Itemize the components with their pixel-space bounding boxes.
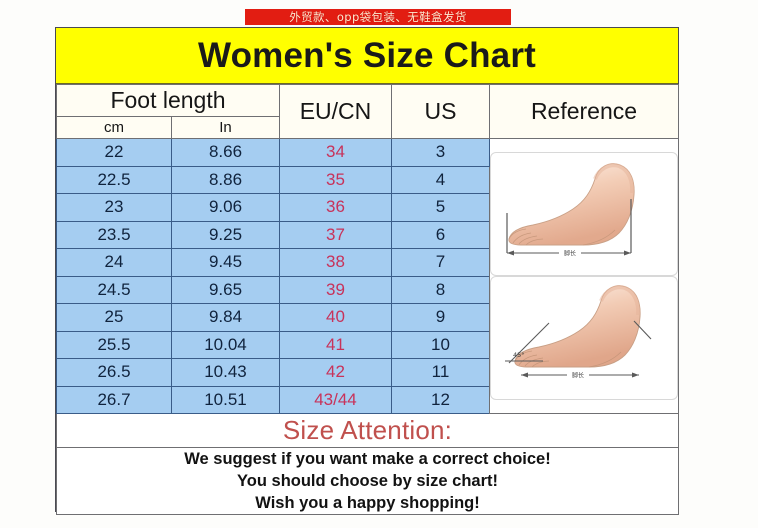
attention-title: Size Attention: <box>283 415 452 445</box>
angle-label: 45° <box>513 351 525 359</box>
header-reference: Reference <box>490 85 679 139</box>
cell-cm: 26.5 <box>57 359 172 387</box>
cell-eu: 36 <box>280 194 392 222</box>
cell-us: 3 <box>392 139 490 167</box>
cell-in: 10.04 <box>172 331 280 359</box>
cell-in: 9.06 <box>172 194 280 222</box>
cell-in: 10.43 <box>172 359 280 387</box>
cell-us: 10 <box>392 331 490 359</box>
cell-in: 10.51 <box>172 386 280 414</box>
cell-cm: 25 <box>57 304 172 332</box>
cell-us: 7 <box>392 249 490 277</box>
cell-in: 9.65 <box>172 276 280 304</box>
attention-line-1: We suggest if you want make a correct ch… <box>57 448 678 470</box>
cell-cm: 24.5 <box>57 276 172 304</box>
header-foot-length: Foot length <box>57 85 280 117</box>
cell-eu: 39 <box>280 276 392 304</box>
cell-cm: 24 <box>57 249 172 277</box>
cell-cm: 22 <box>57 139 172 167</box>
cell-eu: 43/44 <box>280 386 392 414</box>
cell-eu: 35 <box>280 166 392 194</box>
attention-body-row: We suggest if you want make a correct ch… <box>57 448 679 515</box>
cell-in: 9.25 <box>172 221 280 249</box>
cell-cm: 23 <box>57 194 172 222</box>
header-eu-cn: EU/CN <box>280 85 392 139</box>
cell-in: 9.84 <box>172 304 280 332</box>
attention-line-3: Wish you a happy shopping! <box>57 492 678 514</box>
cell-cm: 25.5 <box>57 331 172 359</box>
cell-in: 8.66 <box>172 139 280 167</box>
cell-cm: 26.7 <box>57 386 172 414</box>
cell-in: 8.86 <box>172 166 280 194</box>
cell-eu: 41 <box>280 331 392 359</box>
cell-us: 5 <box>392 194 490 222</box>
foot-measure-icon: 脚长 <box>491 153 678 276</box>
page-title: Women's Size Chart <box>198 36 536 76</box>
cell-cm: 23.5 <box>57 221 172 249</box>
cell-us: 8 <box>392 276 490 304</box>
svg-text:脚长: 脚长 <box>572 372 584 380</box>
svg-text:脚长: 脚长 <box>564 250 576 258</box>
cell-eu: 42 <box>280 359 392 387</box>
reference-pane-bottom: 45° 脚长 method:inner length of shoe=lengt… <box>490 276 678 400</box>
cell-eu: 38 <box>280 249 392 277</box>
cell-eu: 37 <box>280 221 392 249</box>
size-chart-page: 外贸款、opp袋包装、无鞋盒发货 Women's Size Chart Foot… <box>0 0 758 528</box>
foot-measure-angle-icon: 45° 脚长 <box>491 277 678 400</box>
promo-banner: 外贸款、opp袋包装、无鞋盒发货 <box>245 9 511 25</box>
reference-pane-top: 脚长 method:inner length of shoe=length of… <box>490 152 678 276</box>
attention-line-2: You should choose by size chart! <box>57 470 678 492</box>
cell-cm: 22.5 <box>57 166 172 194</box>
cell-in: 9.45 <box>172 249 280 277</box>
title-band: Women's Size Chart <box>56 28 678 84</box>
cell-eu: 40 <box>280 304 392 332</box>
table-header-row-main: Foot length EU/CN US Reference <box>57 85 679 117</box>
cell-us: 9 <box>392 304 490 332</box>
cell-eu: 34 <box>280 139 392 167</box>
attention-heading-row: Size Attention: <box>57 414 679 448</box>
header-in: In <box>172 117 280 139</box>
reference-cell: 脚长 method:inner length of shoe=length of… <box>490 139 679 414</box>
size-chart-table: Foot length EU/CN US Reference cm In 22 … <box>56 84 679 515</box>
cell-us: 11 <box>392 359 490 387</box>
header-us: US <box>392 85 490 139</box>
cell-us: 12 <box>392 386 490 414</box>
attention-heading-cell: Size Attention: <box>57 414 679 448</box>
size-chart-sheet: Women's Size Chart Foot length EU/CN US … <box>55 27 679 512</box>
cell-us: 4 <box>392 166 490 194</box>
header-cm: cm <box>57 117 172 139</box>
table-row: 22 8.66 34 3 <box>57 139 679 167</box>
attention-body-cell: We suggest if you want make a correct ch… <box>57 448 679 515</box>
cell-us: 6 <box>392 221 490 249</box>
reference-images: 脚长 method:inner length of shoe=length of… <box>490 152 678 400</box>
